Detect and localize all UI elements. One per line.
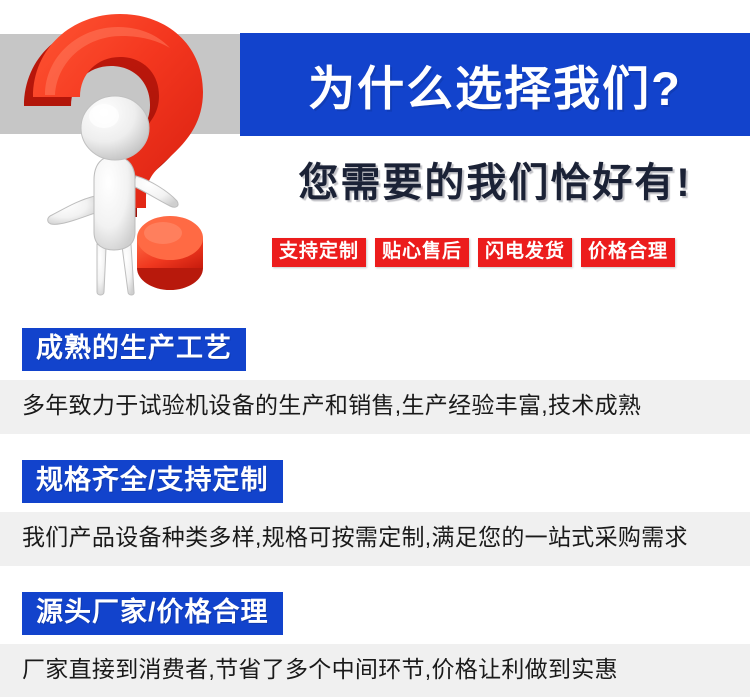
hero-section: 为什么选择我们? 您需要的我们恰好有! 支持定制 贴心售后 闪电发货 价格合理 — [0, 0, 750, 300]
features-section: 成熟的生产工艺 多年致力于试验机设备的生产和销售,生产经验丰富,技术成熟 规格齐… — [0, 300, 750, 697]
feature-title-factory: 源头厂家/价格合理 — [22, 592, 283, 635]
hero-subtitle: 您需要的我们恰好有! — [255, 150, 735, 208]
feature-title-production: 成熟的生产工艺 — [22, 328, 246, 371]
promo-banner: 为什么选择我们? 您需要的我们恰好有! 支持定制 贴心售后 闪电发货 价格合理 … — [0, 0, 750, 697]
badge-fair-price: 价格合理 — [581, 238, 675, 267]
question-mark-illustration — [0, 0, 250, 300]
badge-after-sales: 贴心售后 — [375, 238, 469, 267]
feature-body-specs: 我们产品设备种类多样,规格可按需定制,满足您的一站式采购需求 — [0, 512, 750, 566]
feature-item-production: 成熟的生产工艺 多年致力于试验机设备的生产和销售,生产经验丰富,技术成熟 — [0, 328, 750, 434]
question-mark-dot — [137, 216, 203, 290]
feature-item-specs: 规格齐全/支持定制 我们产品设备种类多样,规格可按需定制,满足您的一站式采购需求 — [0, 460, 750, 566]
feature-item-factory: 源头厂家/价格合理 厂家直接到消费者,节省了多个中间环节,价格让利做到实惠 — [0, 592, 750, 697]
feature-body-factory: 厂家直接到消费者,节省了多个中间环节,价格让利做到实惠 — [0, 644, 750, 697]
feature-badge-row: 支持定制 贴心售后 闪电发货 价格合理 — [272, 238, 740, 267]
badge-fast-shipping: 闪电发货 — [478, 238, 572, 267]
badge-custom: 支持定制 — [272, 238, 366, 267]
page-title: 为什么选择我们? — [240, 33, 750, 136]
feature-title-specs: 规格齐全/支持定制 — [22, 460, 283, 503]
feature-body-production: 多年致力于试验机设备的生产和销售,生产经验丰富,技术成熟 — [0, 380, 750, 434]
